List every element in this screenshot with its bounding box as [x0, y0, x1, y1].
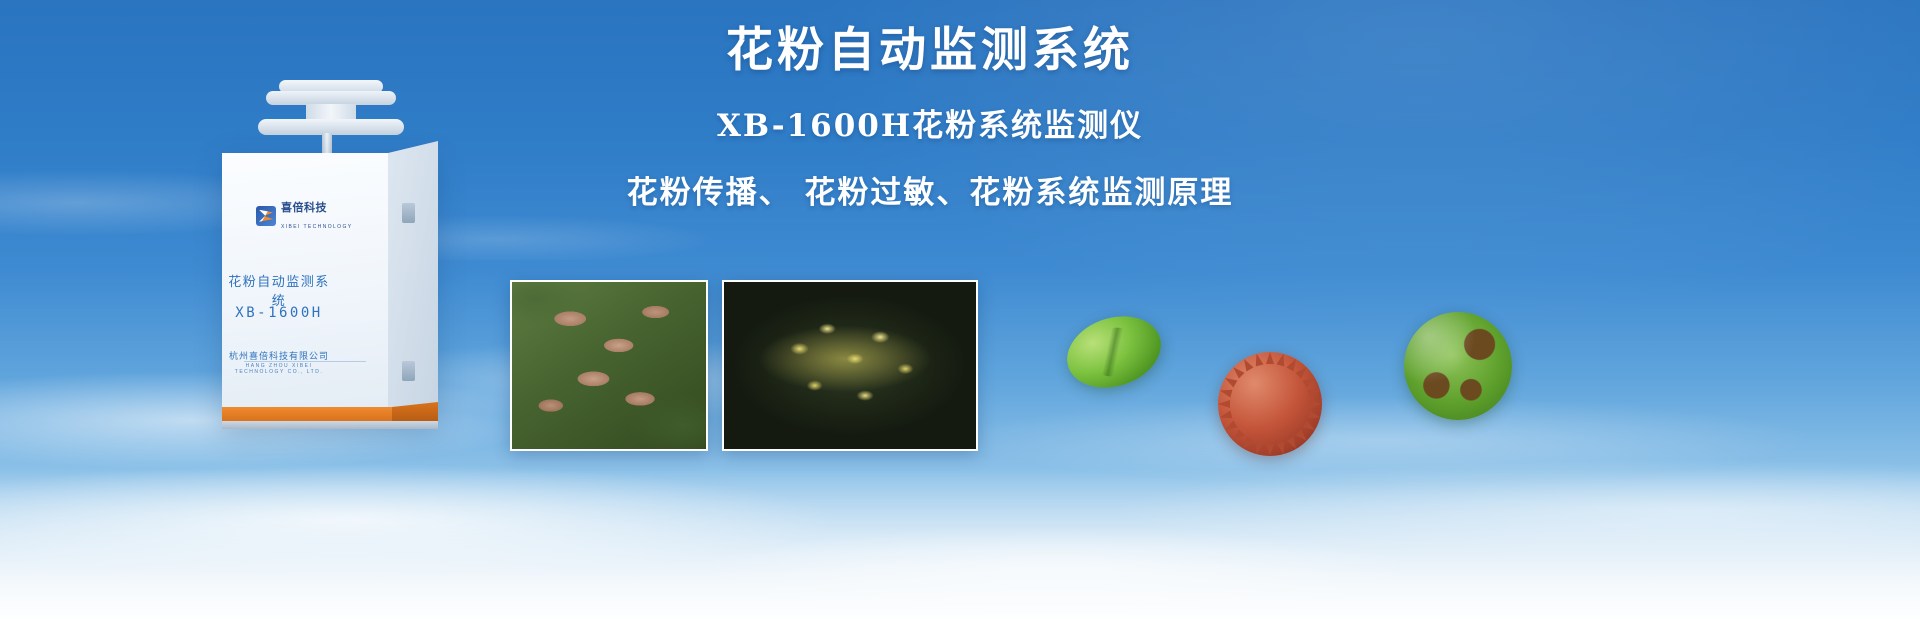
device-base [222, 421, 438, 429]
banner-subheadline-2: 花粉传播、 花粉过敏、花粉系统监测原理 [560, 167, 1300, 212]
photo-catkin-flower-pollen [722, 280, 978, 451]
device-brand-logo: 喜倍科技 XIBEI TECHNOLOGY [256, 199, 353, 233]
device-product-name: 花粉自动监测系统 [222, 271, 336, 309]
banner-headline: 花粉自动监测系统 [560, 24, 1300, 78]
device-stack-neck [306, 104, 356, 120]
horizon-haze [0, 469, 1920, 619]
photo-cypress-pollen-cones [510, 280, 708, 451]
device-company-divider [244, 361, 366, 362]
pollen-grain-spiky [1218, 352, 1322, 456]
device-company-en: HANG ZHOU XIBEI TECHNOLOGY CO., LTD. [222, 363, 336, 375]
device-brand-cn: 喜倍科技 [281, 202, 327, 214]
device-latch-upper [402, 203, 415, 223]
device-accent-stripe [222, 407, 412, 421]
device-brand-en: XIBEI TECHNOLOGY [281, 224, 353, 230]
pollen-grain-warty [1404, 312, 1512, 420]
device-side-panel [388, 141, 438, 428]
device-illustration: 喜倍科技 XIBEI TECHNOLOGY 花粉自动监测系统 XB-1600H … [196, 80, 466, 430]
device-latch-lower [402, 361, 415, 381]
device-cabinet: 喜倍科技 XIBEI TECHNOLOGY 花粉自动监测系统 XB-1600H … [222, 153, 438, 428]
device-model-label: XB-1600H [222, 305, 336, 321]
device-stack-upper [266, 91, 396, 105]
xibei-logo-icon [256, 206, 276, 226]
banner-text-block: 花粉自动监测系统 XB-1600H花粉系统监测仪 花粉传播、 花粉过敏、花粉系统… [560, 24, 1300, 212]
pollen-spikes-icon [1218, 352, 1322, 456]
device-front-panel: 喜倍科技 XIBEI TECHNOLOGY 花粉自动监测系统 XB-1600H … [222, 153, 388, 428]
banner-subheadline-1: XB-1600H花粉系统监测仪 [560, 100, 1300, 145]
pollen-monitoring-banner: 喜倍科技 XIBEI TECHNOLOGY 花粉自动监测系统 XB-1600H … [0, 0, 1920, 619]
